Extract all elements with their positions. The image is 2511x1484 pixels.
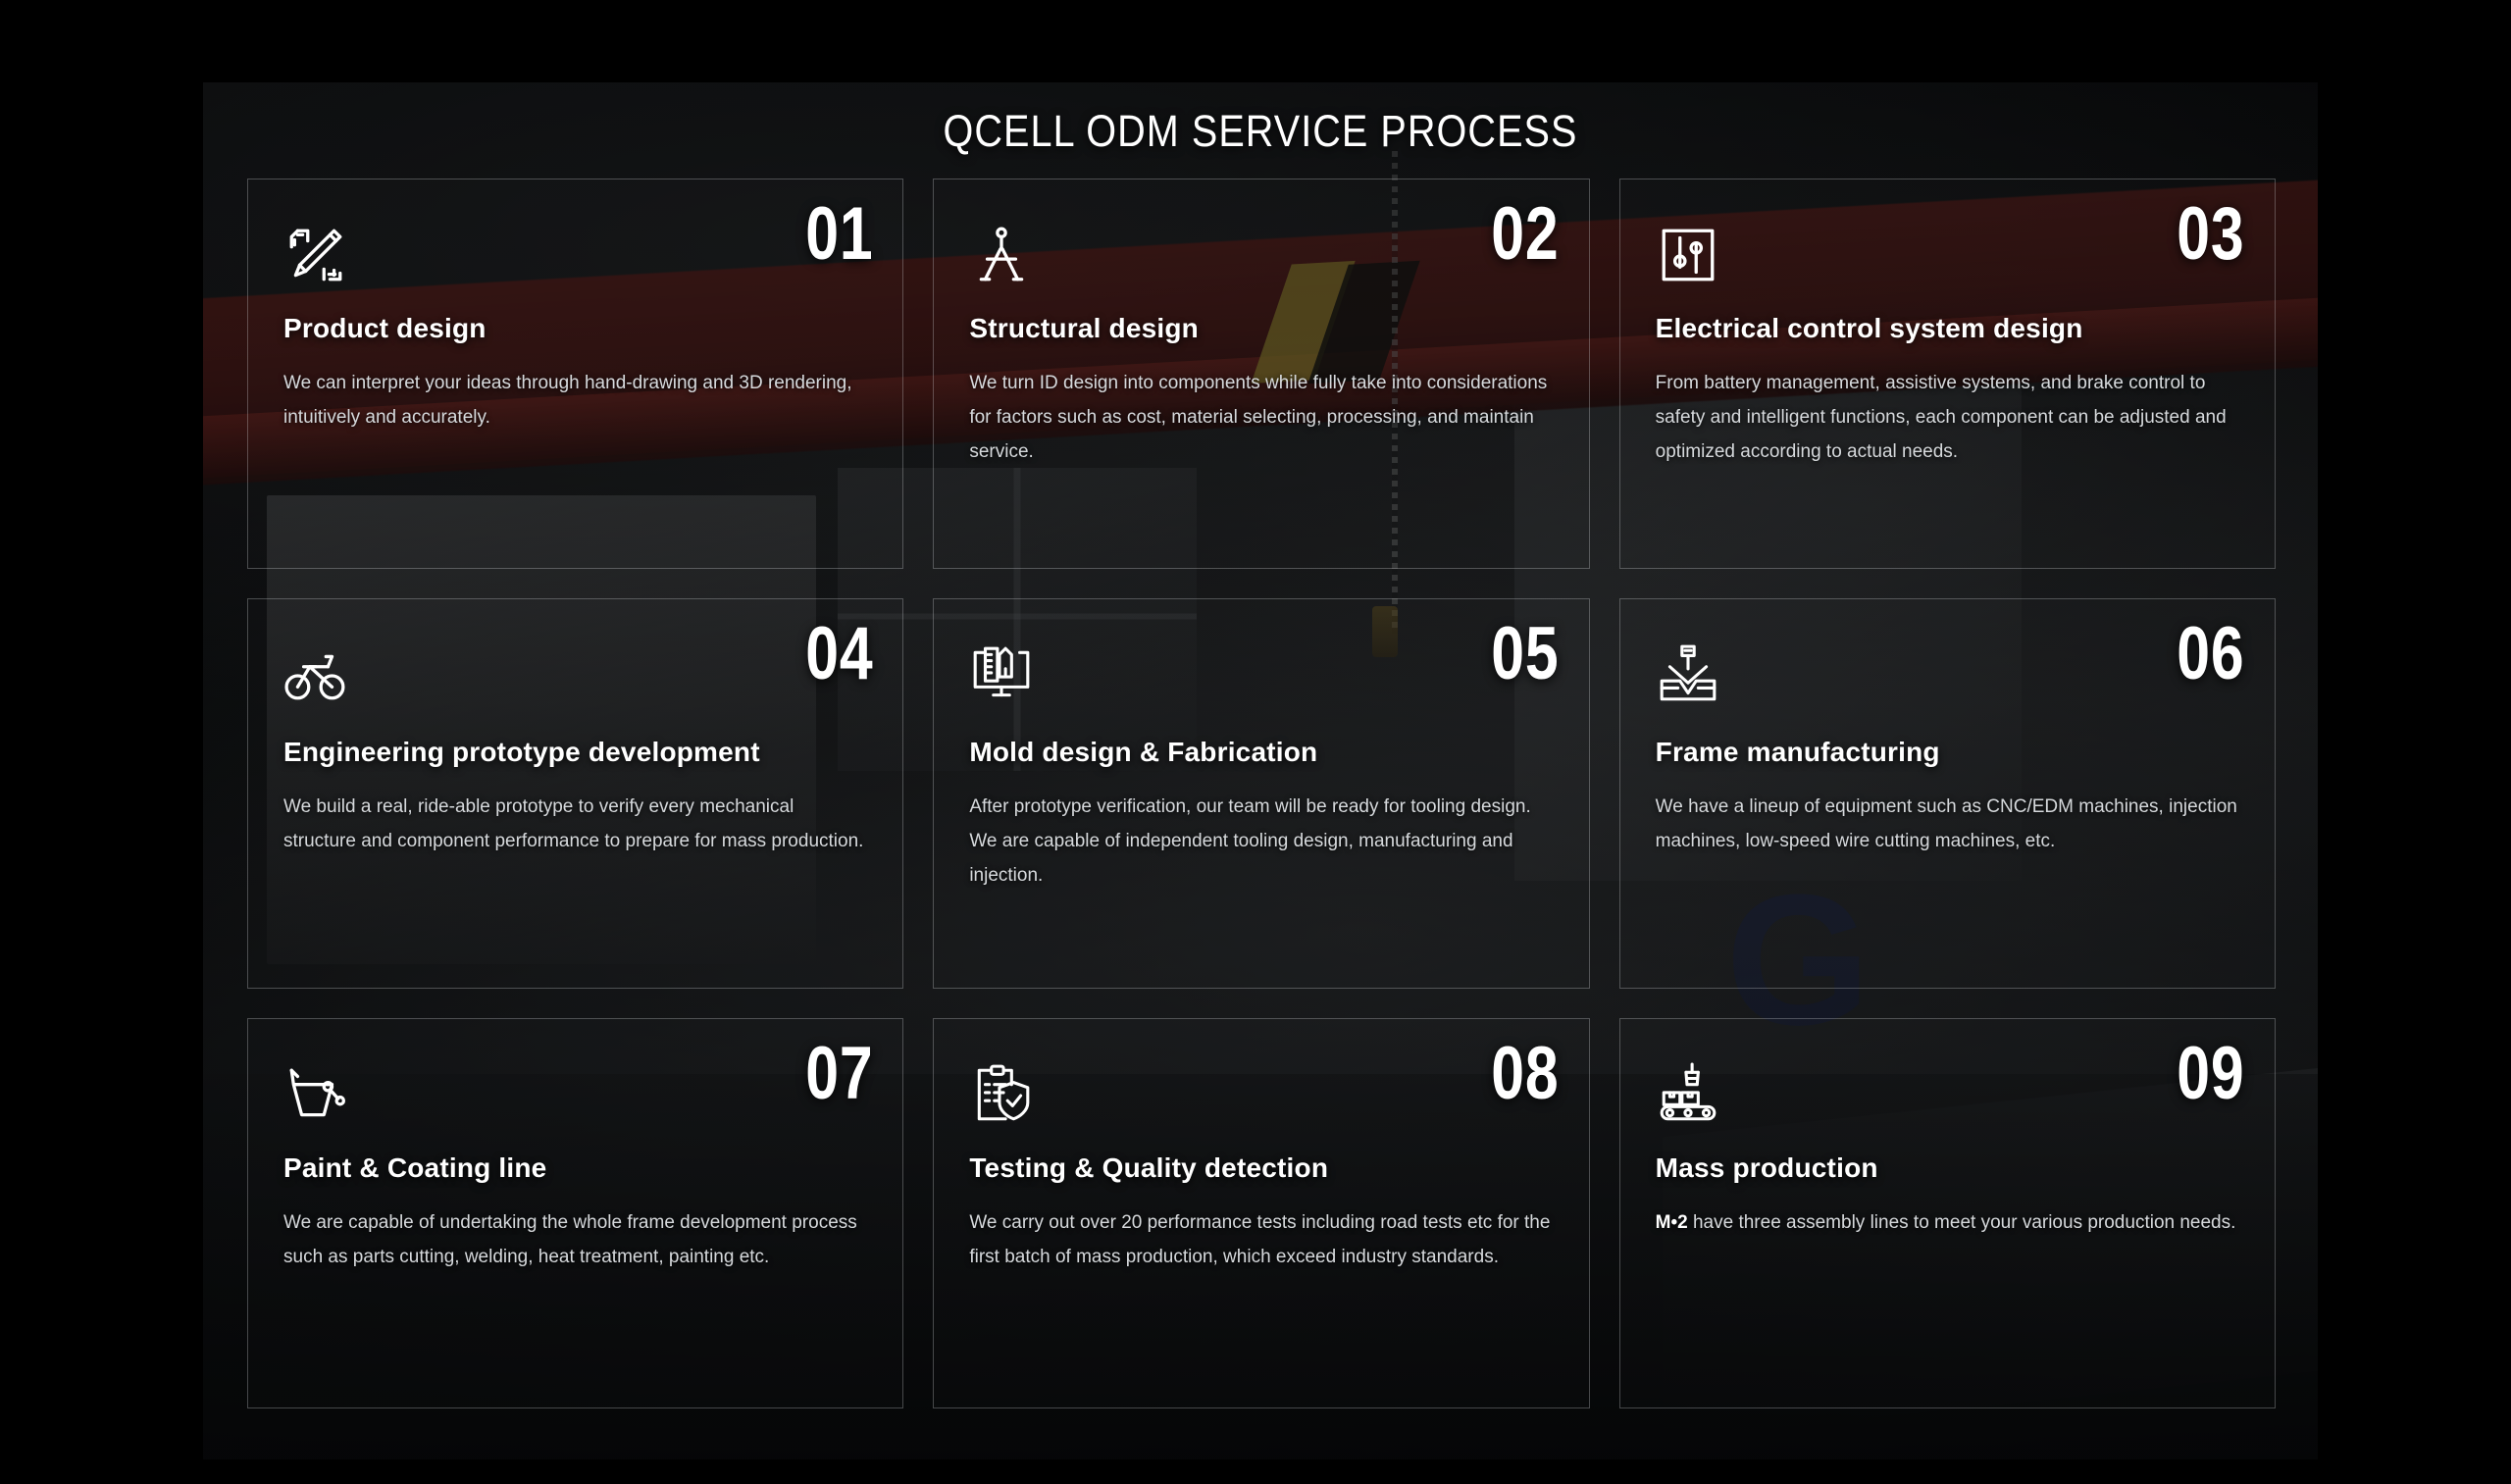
card-number: 09 bbox=[2178, 1041, 2245, 1107]
card-title: Electrical control system design bbox=[1656, 313, 2239, 344]
process-card-06[interactable]: 06 Frame manufacturing We have a lineup … bbox=[1619, 598, 2276, 989]
conveyor-robot-icon bbox=[1656, 1062, 1720, 1127]
process-card-09[interactable]: 09 Mass production bbox=[1619, 1018, 2276, 1408]
process-card-04[interactable]: 04 Engineering prototype development We … bbox=[247, 598, 903, 989]
process-card-01[interactable]: 01 Product design We can interpret bbox=[247, 179, 903, 569]
card-number: 08 bbox=[1491, 1041, 1559, 1107]
card-description: We turn ID design into components while … bbox=[969, 366, 1553, 469]
process-card-grid: 01 Product design We can interpret bbox=[247, 179, 2276, 1408]
card-number: 03 bbox=[2178, 201, 2245, 268]
card-description: We have a lineup of equipment such as CN… bbox=[1656, 790, 2239, 858]
card-number: 06 bbox=[2178, 621, 2245, 688]
card-number: 04 bbox=[805, 621, 873, 688]
card-title: Structural design bbox=[969, 313, 1553, 344]
card-description: From battery management, assistive syste… bbox=[1656, 366, 2239, 469]
bicycle-icon bbox=[283, 642, 348, 707]
slide-stage: G QCELL ODM SERVICE PROCESS 01 bbox=[203, 82, 2318, 1459]
card-number: 07 bbox=[805, 1041, 873, 1107]
press-brake-icon bbox=[1656, 642, 1720, 707]
card-description: We carry out over 20 performance tests i… bbox=[969, 1205, 1553, 1274]
card-title: Paint & Coating line bbox=[283, 1152, 867, 1184]
card-description: After prototype verification, our team w… bbox=[969, 790, 1553, 893]
process-card-07[interactable]: 07 Paint & Coating line We are capable o… bbox=[247, 1018, 903, 1408]
card-description: We build a real, ride-able prototype to … bbox=[283, 790, 867, 858]
card-description: We are capable of undertaking the whole … bbox=[283, 1205, 867, 1274]
page-title: QCELL ODM SERVICE PROCESS bbox=[330, 106, 2190, 157]
card-number: 02 bbox=[1491, 201, 1559, 268]
card-description-prefix: M•2 bbox=[1656, 1212, 1688, 1233]
paint-bucket-icon bbox=[283, 1062, 348, 1127]
card-number: 01 bbox=[805, 201, 873, 268]
card-description: We can interpret your ideas through hand… bbox=[283, 366, 867, 435]
process-card-02[interactable]: 02 Structural design We turn ID design i… bbox=[933, 179, 1589, 569]
compass-divider-icon bbox=[969, 223, 1034, 287]
process-card-03[interactable]: 03 Electrical control system design From… bbox=[1619, 179, 2276, 569]
card-description: M•2 have three assembly lines to meet yo… bbox=[1656, 1205, 2239, 1240]
process-card-05[interactable]: 05 Mold design & Fabrication After proto… bbox=[933, 598, 1589, 989]
card-title: Engineering prototype development bbox=[283, 737, 867, 768]
card-title: Mass production bbox=[1656, 1152, 2239, 1184]
process-card-08[interactable]: 08 Testing & Quality detection We carry … bbox=[933, 1018, 1589, 1408]
control-sliders-icon bbox=[1656, 223, 1720, 287]
card-description-body: have three assembly lines to meet your v… bbox=[1693, 1212, 2235, 1233]
card-title: Product design bbox=[283, 313, 867, 344]
card-number: 05 bbox=[1491, 621, 1559, 688]
card-title: Mold design & Fabrication bbox=[969, 737, 1553, 768]
card-title: Frame manufacturing bbox=[1656, 737, 2239, 768]
pencil-ruler-icon bbox=[283, 223, 348, 287]
cad-monitor-icon bbox=[969, 642, 1034, 707]
clipboard-shield-check-icon bbox=[969, 1062, 1034, 1127]
card-title: Testing & Quality detection bbox=[969, 1152, 1553, 1184]
